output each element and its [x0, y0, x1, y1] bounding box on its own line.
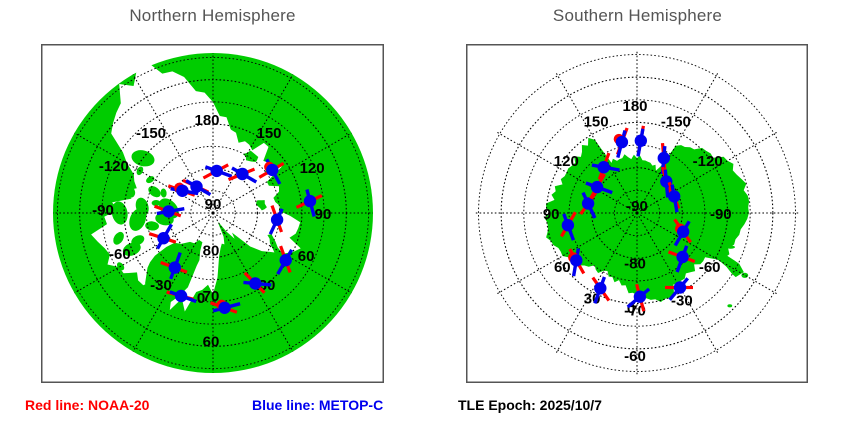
satellite-position-dot[interactable] — [280, 254, 292, 266]
satellite-position-dot[interactable] — [677, 226, 689, 238]
lat-label: -90 — [626, 198, 648, 215]
legend-red-line-noaa20: Red line: NOAA-20 — [25, 397, 149, 413]
satellite-position-dot[interactable] — [162, 205, 174, 217]
lon-label: -150 — [136, 125, 166, 142]
lat-label: -80 — [624, 255, 646, 272]
satellite-position-dot[interactable] — [635, 135, 647, 147]
lon-label: 120 — [300, 160, 325, 177]
satellite-position-dot[interactable] — [218, 302, 230, 314]
satellite-position-dot[interactable] — [249, 277, 261, 289]
lat-label: 90 — [205, 196, 222, 213]
satellite-position-dot[interactable] — [634, 291, 646, 303]
satellite-position-dot[interactable] — [266, 164, 278, 176]
satellite-position-dot[interactable] — [236, 168, 248, 180]
satellite-position-dot[interactable] — [594, 282, 606, 294]
satellite-position-dot[interactable] — [658, 152, 670, 164]
lon-label: -120 — [693, 153, 723, 170]
satellite-position-dot[interactable] — [616, 136, 628, 148]
satellite-position-dot[interactable] — [668, 190, 680, 202]
satellite-position-dot[interactable] — [175, 290, 187, 302]
lat-label: -60 — [624, 348, 646, 365]
polar-plot-south[interactable]: 0306090120150180-150-120-90-60-30-90-80-… — [466, 44, 808, 383]
polar-chart-north-svg: 0306090120150180-150-120-90-60-309080706… — [41, 44, 384, 383]
lat-label: 80 — [203, 242, 220, 259]
page-title-north: Northern Hemisphere — [0, 6, 425, 26]
lon-label: -90 — [92, 202, 114, 219]
satellite-position-dot[interactable] — [570, 254, 582, 266]
satellite-position-dot[interactable] — [591, 181, 603, 193]
polar-chart-south-svg: 0306090120150180-150-120-90-60-30-90-80-… — [466, 44, 808, 383]
lon-label: 150 — [584, 113, 609, 130]
satellite-position-dot[interactable] — [169, 261, 181, 273]
polar-plot-north[interactable]: 0306090120150180-150-120-90-60-309080706… — [41, 44, 384, 383]
lon-label: 90 — [315, 206, 332, 223]
lon-label: 60 — [298, 248, 315, 265]
satellite-position-dot[interactable] — [676, 251, 688, 263]
lon-label: 60 — [554, 259, 571, 276]
panel-northern-hemisphere: Northern Hemisphere 0306090120150180-150… — [0, 0, 425, 390]
satellite-position-dot[interactable] — [598, 161, 610, 173]
lon-label: 150 — [256, 125, 281, 142]
lon-label: -150 — [661, 113, 691, 130]
satellite-position-dot[interactable] — [176, 185, 188, 197]
page-title-south: Southern Hemisphere — [425, 6, 850, 26]
satellite-position-dot[interactable] — [271, 214, 283, 226]
lon-label: 180 — [194, 112, 219, 129]
lon-label: 90 — [543, 206, 560, 223]
satellite-position-dot[interactable] — [157, 232, 169, 244]
satellite-position-dot[interactable] — [582, 197, 594, 209]
satellite-position-dot[interactable] — [562, 219, 574, 231]
satellite-position-dot[interactable] — [674, 281, 686, 293]
satellite-position-dot[interactable] — [304, 195, 316, 207]
lon-label: -60 — [699, 259, 721, 276]
lon-label: 180 — [622, 98, 647, 115]
lon-label: -60 — [109, 246, 131, 263]
lat-label: 60 — [203, 333, 220, 350]
satellite-position-dot[interactable] — [211, 165, 223, 177]
lon-label: -90 — [710, 206, 732, 223]
legend-tle-epoch: TLE Epoch: 2025/10/7 — [458, 397, 602, 413]
panel-southern-hemisphere: Southern Hemisphere 0306090120150180-150… — [425, 0, 850, 390]
legend-blue-line-metopc: Blue line: METOP-C — [252, 397, 383, 413]
legend: Red line: NOAA-20 Blue line: METOP-C TLE… — [0, 392, 850, 425]
satellite-position-dot[interactable] — [190, 180, 202, 192]
lon-label: -120 — [99, 158, 129, 175]
lon-label: 120 — [554, 153, 579, 170]
